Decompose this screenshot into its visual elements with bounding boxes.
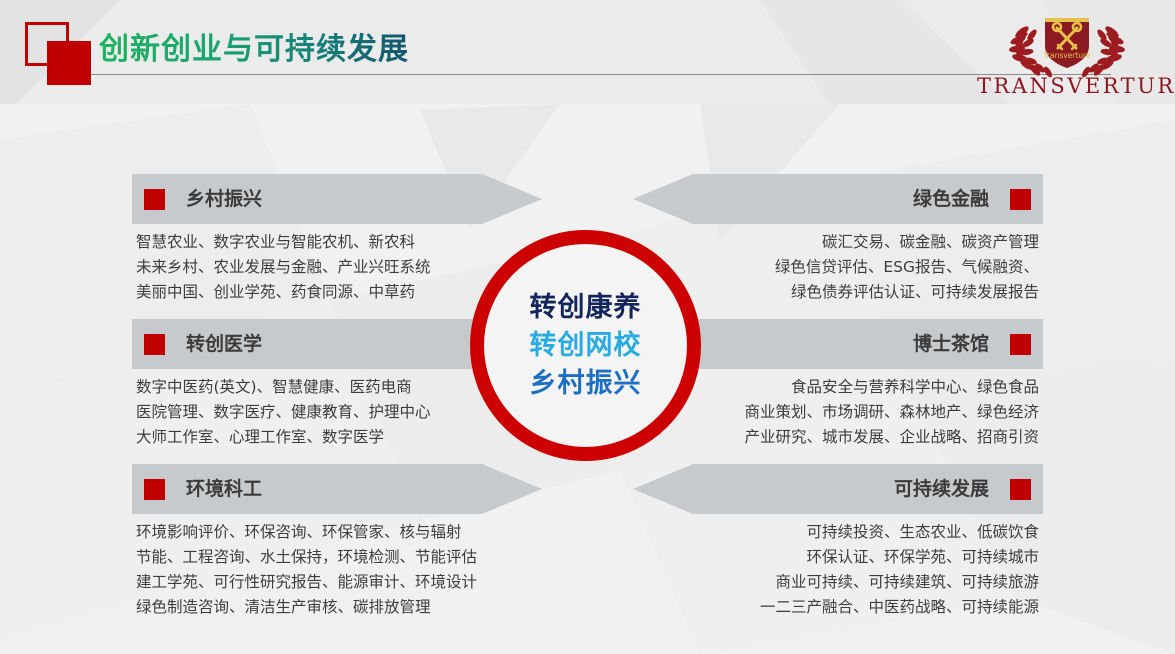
panel-body: 碳汇交易、碳金融、碳资产管理 绿色信贷评估、ESG报告、气候融资、 绿色债券评估… [633, 224, 1043, 305]
panel-left-0[interactable]: 乡村振兴 智慧农业、数字农业与智能农机、新农科 未来乡村、农业发展与金融、产业兴… [132, 174, 542, 305]
panel-body: 可持续投资、生态农业、低碳饮食 环保认证、环保学苑、可持续城市 商业可持续、可持… [633, 514, 1043, 620]
panel-bullet-square [144, 189, 165, 210]
slide-canvas: 创新创业与可持续发展 [0, 0, 1175, 654]
panel-line: 商业可持续、可持续建筑、可持续旅游 [633, 570, 1039, 595]
shield-text: Transverture [1042, 51, 1091, 60]
panel-line: 一二三产融合、中医药战略、可持续能源 [633, 595, 1039, 620]
header-divider [91, 74, 1111, 75]
panel-title: 可持续发展 [894, 464, 989, 514]
panel-line: 节能、工程咨询、水土保持，环境检测、节能评估 [136, 545, 542, 570]
panel-line: 碳汇交易、碳金融、碳资产管理 [633, 230, 1039, 255]
panel-bullet-square [1010, 479, 1031, 500]
panel-bullet-square [144, 334, 165, 355]
page-title: 创新创业与可持续发展 [99, 24, 409, 68]
logo-wordmark: TRANSVERTURE [977, 74, 1157, 98]
panel-line: 绿色制造咨询、清洁生产审核、碳排放管理 [136, 595, 542, 620]
panel-bullet-square [144, 479, 165, 500]
center-ring [470, 230, 701, 461]
panel-body: 智慧农业、数字农业与智能农机、新农科 未来乡村、农业发展与金融、产业兴旺系统 美… [132, 224, 542, 305]
panel-line: 绿色债券评估认证、可持续发展报告 [633, 280, 1039, 305]
panel-line: 产业研究、城市发展、企业战略、招商引资 [633, 425, 1039, 450]
panel-title: 博士茶馆 [913, 319, 989, 369]
panel-line: 环保认证、环保学苑、可持续城市 [633, 545, 1039, 570]
panel-line: 商业策划、市场调研、森林地产、绿色经济 [633, 400, 1039, 425]
panel-title: 乡村振兴 [186, 174, 262, 224]
panel-left-2[interactable]: 环境科工 环境影响评价、环保咨询、环保管家、核与辐射 节能、工程咨询、水土保持，… [132, 464, 542, 620]
panel-line: 建工学苑、可行性研究报告、能源审计、环境设计 [136, 570, 542, 595]
panel-bullet-square [1010, 334, 1031, 355]
panel-line: 绿色信贷评估、ESG报告、气候融资、 [633, 255, 1039, 280]
panel-body: 环境影响评价、环保咨询、环保管家、核与辐射 节能、工程咨询、水土保持，环境检测、… [132, 514, 542, 620]
panel-bullet-square [1010, 189, 1031, 210]
brand-logo: Transverture TRANSVERTURE [977, 8, 1157, 104]
panel-line: 大师工作室、心理工作室、数字医学 [136, 425, 542, 450]
panel-line: 未来乡村、农业发展与金融、产业兴旺系统 [136, 255, 542, 280]
panel-title: 转创医学 [186, 319, 262, 369]
panel-title: 绿色金融 [913, 174, 989, 224]
shield-crest-icon: Transverture [1002, 8, 1132, 78]
panel-line: 医院管理、数字医疗、健康教育、护理中心 [136, 400, 542, 425]
panel-right-2[interactable]: 可持续发展 可持续投资、生态农业、低碳饮食 环保认证、环保学苑、可持续城市 商业… [633, 464, 1043, 620]
panel-line: 智慧农业、数字农业与智能农机、新农科 [136, 230, 542, 255]
panel-line: 可持续投资、生态农业、低碳饮食 [633, 520, 1039, 545]
panel-line: 环境影响评价、环保咨询、环保管家、核与辐射 [136, 520, 542, 545]
decor-square-filled [47, 41, 91, 85]
panel-right-0[interactable]: 绿色金融 碳汇交易、碳金融、碳资产管理 绿色信贷评估、ESG报告、气候融资、 绿… [633, 174, 1043, 305]
panel-title: 环境科工 [186, 464, 262, 514]
